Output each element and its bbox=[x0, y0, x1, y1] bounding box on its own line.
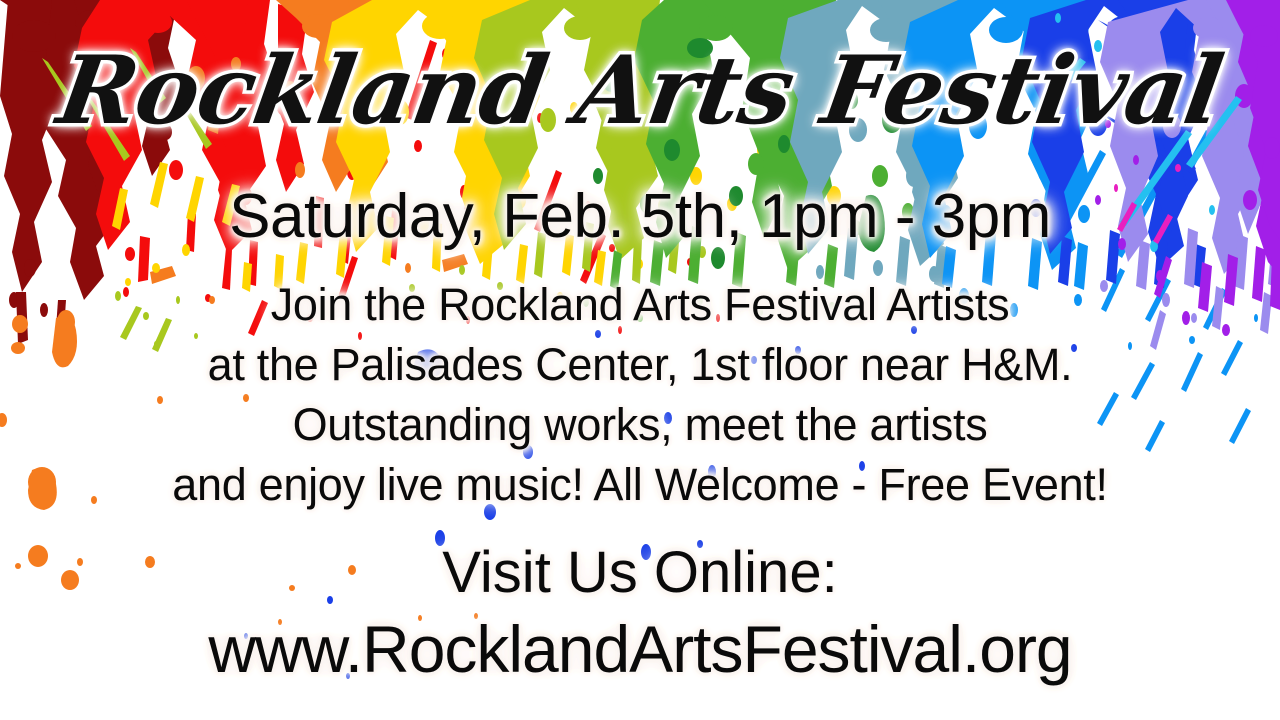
website-url[interactable]: www.RocklandArtsFestival.org bbox=[0, 616, 1280, 682]
visit-online-label: Visit Us Online: bbox=[0, 544, 1280, 602]
event-poster: Rockland Arts Festival Saturday, Feb. 5t… bbox=[0, 0, 1280, 720]
description-line-4: and enjoy live music! All Welcome - Free… bbox=[0, 455, 1280, 515]
page-title: Rockland Arts Festival bbox=[0, 44, 1280, 138]
event-description: Join the Rockland Arts Festival Artists … bbox=[0, 275, 1280, 514]
poster-text-stack: Rockland Arts Festival Saturday, Feb. 5t… bbox=[0, 0, 1280, 720]
description-line-2: at the Palisades Center, 1st floor near … bbox=[0, 335, 1280, 395]
event-date-time: Saturday, Feb. 5th, 1pm - 3pm bbox=[0, 186, 1280, 248]
description-line-1: Join the Rockland Arts Festival Artists bbox=[0, 275, 1280, 335]
description-line-3: Outstanding works, meet the artists bbox=[0, 395, 1280, 455]
